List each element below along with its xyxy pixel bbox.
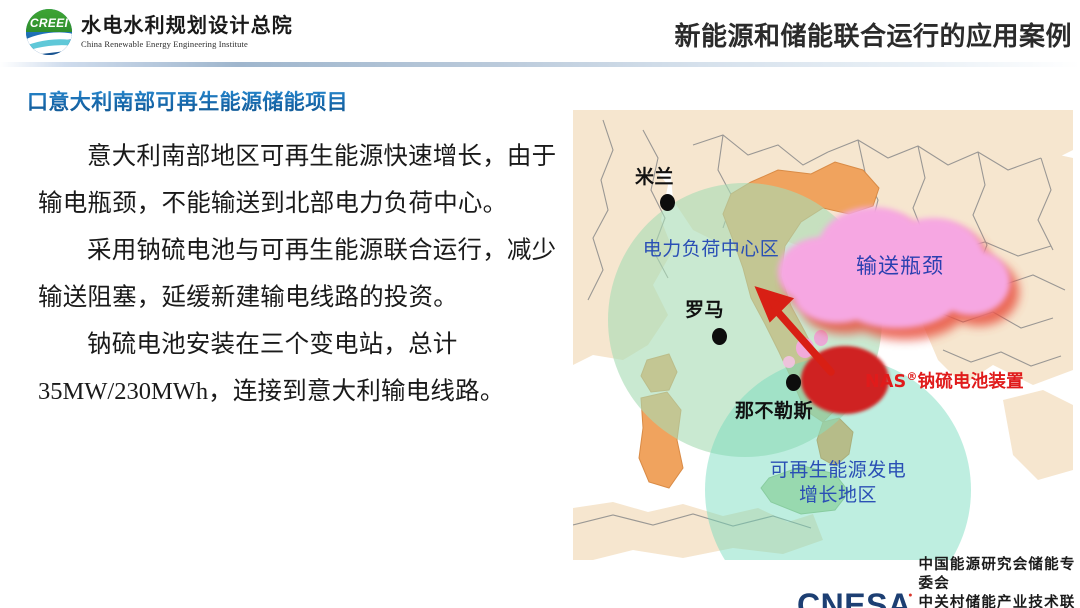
paragraph-2: 采用钠硫电池与可再生能源联合运行，减少输送阻塞，延缓新建输电线路的投资。 [38,226,558,320]
creei-logo-texts: 水电水利规划设计总院 China Renewable Energy Engine… [81,15,293,49]
zone-label-growth-line1: 可再生能源发电 [748,458,928,483]
city-dot-milan [660,194,675,211]
cnesa-mark: CNESA ● ChinaEnergy Storage Alliance [797,589,912,608]
paragraph-1: 意大利南部地区可再生能源快速增长，由于输电瓶颈，不能输送到北部电力负荷中心。 [38,132,558,226]
city-dot-rome [712,328,727,345]
city-label-rome: 罗马 [685,295,724,322]
org-name-cn: 水电水利规划设计总院 [81,15,293,36]
slide-root: CREEI 水电水利规划设计总院 China Renewable Energy … [0,0,1080,608]
bottleneck-label: 输送瓶颈 [820,250,980,280]
header-divider [0,62,1080,67]
italy-map: 米兰 罗马 那不勒斯 电力负荷中心区 可再生能源发电 增长地区 输送瓶颈 NAS… [573,110,1073,560]
creei-logo-mark-icon: CREEI [26,9,72,55]
paragraph-3-part1: 钠硫电池安装在三个变电站，总计 [87,329,458,358]
page-title: 新能源和储能联合运行的应用案例 [674,16,1072,53]
cnesa-cn-line1: 中国能源研究会储能专委会 [919,556,1080,594]
capacity-value: 35MW/230MWh [38,378,208,405]
cnesa-subtitle-cn: 中国能源研究会储能专委会 中关村储能产业技术联盟 [919,556,1080,608]
cnesa-cn-line2: 中关村储能产业技术联盟 [919,594,1080,608]
nas-device-label: NAS®钠硫电池装置 [865,368,1024,393]
slide-header: CREEI 水电水利规划设计总院 China Renewable Energy … [0,0,1080,62]
cnesa-logo: CNESA ● ChinaEnergy Storage Alliance 中国能… [797,556,1080,608]
zone-label-growth-line2: 增长地区 [748,483,928,508]
cnesa-wordmark: CNESA [797,589,912,608]
org-name-en: China Renewable Energy Engineering Insti… [81,39,293,49]
zone-label-growth-area: 可再生能源发电 增长地区 [748,458,928,508]
zone-label-load-center: 电力负荷中心区 [616,237,806,262]
section-heading: 口意大利南部可再生能源储能项目 [27,86,348,116]
city-label-milan: 米兰 [635,162,674,189]
city-dot-naples [786,374,801,391]
creei-logo: CREEI 水电水利规划设计总院 China Renewable Energy … [26,9,293,55]
nas-label-suffix: 钠硫电池装置 [918,372,1024,392]
creei-logo-mark-text: CREEI [26,16,72,30]
nas-label-registered: ® [906,370,917,383]
city-label-naples: 那不勒斯 [735,396,813,423]
paragraph-3-part2: ，连接到意大利输电线路。 [208,376,504,405]
body-text-block: 意大利南部地区可再生能源快速增长，由于输电瓶颈，不能输送到北部电力负荷中心。 采… [38,132,558,415]
paragraph-3: 钠硫电池安装在三个变电站，总计35MW/230MWh，连接到意大利输电线路。 [38,320,558,415]
nas-label-prefix: NAS [865,372,906,392]
cnesa-accent-dot-icon: ● [908,592,912,599]
